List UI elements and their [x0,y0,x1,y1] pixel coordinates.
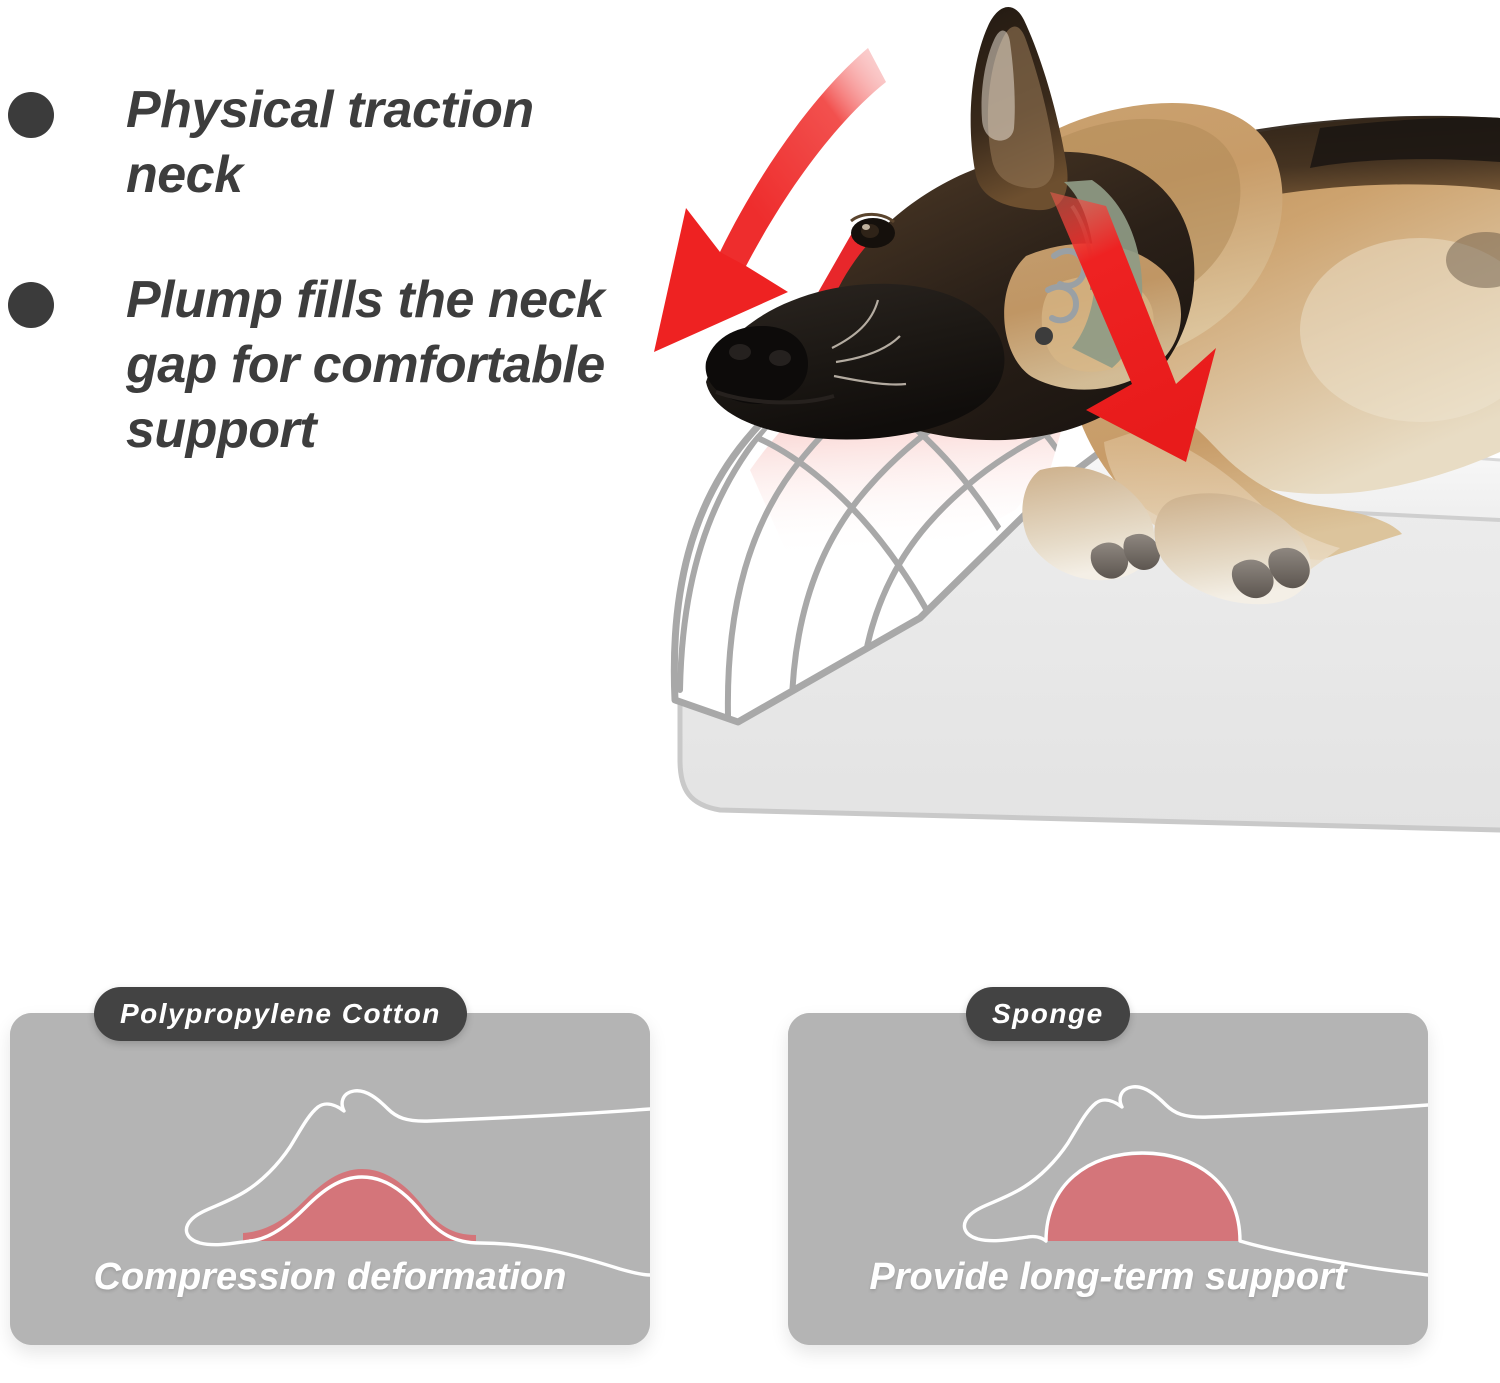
feature-bullet-text-1: Physical traction neck [126,78,660,208]
chip-label-polypropylene-cotton: Polypropylene Cotton [94,987,467,1041]
bullet-dot-icon [8,92,54,138]
panel-sponge: Sponge Provide long-term support [788,1013,1428,1345]
hero-product-illustration [620,0,1500,860]
panel-caption-compression-deformation: Compression deformation [10,1256,650,1299]
feature-bullet-list: Physical traction neck Plump fills the n… [0,78,660,523]
features-hero-section: Physical traction neck Plump fills the n… [0,0,1500,940]
panel-caption-long-term-support: Provide long-term support [788,1256,1428,1299]
bullet-dot-icon [8,282,54,328]
list-item: Physical traction neck [0,78,660,208]
feature-bullet-text-2: Plump fills the neck gap for comfortable… [126,268,660,463]
panel-polypropylene-cotton: Polypropylene Cotton Compression deforma… [10,1013,650,1345]
dog-eye [851,214,895,248]
material-comparison-section: Polypropylene Cotton Compression deforma… [0,985,1500,1383]
list-item: Plump fills the neck gap for comfortable… [0,268,660,463]
chip-label-sponge: Sponge [966,987,1130,1041]
